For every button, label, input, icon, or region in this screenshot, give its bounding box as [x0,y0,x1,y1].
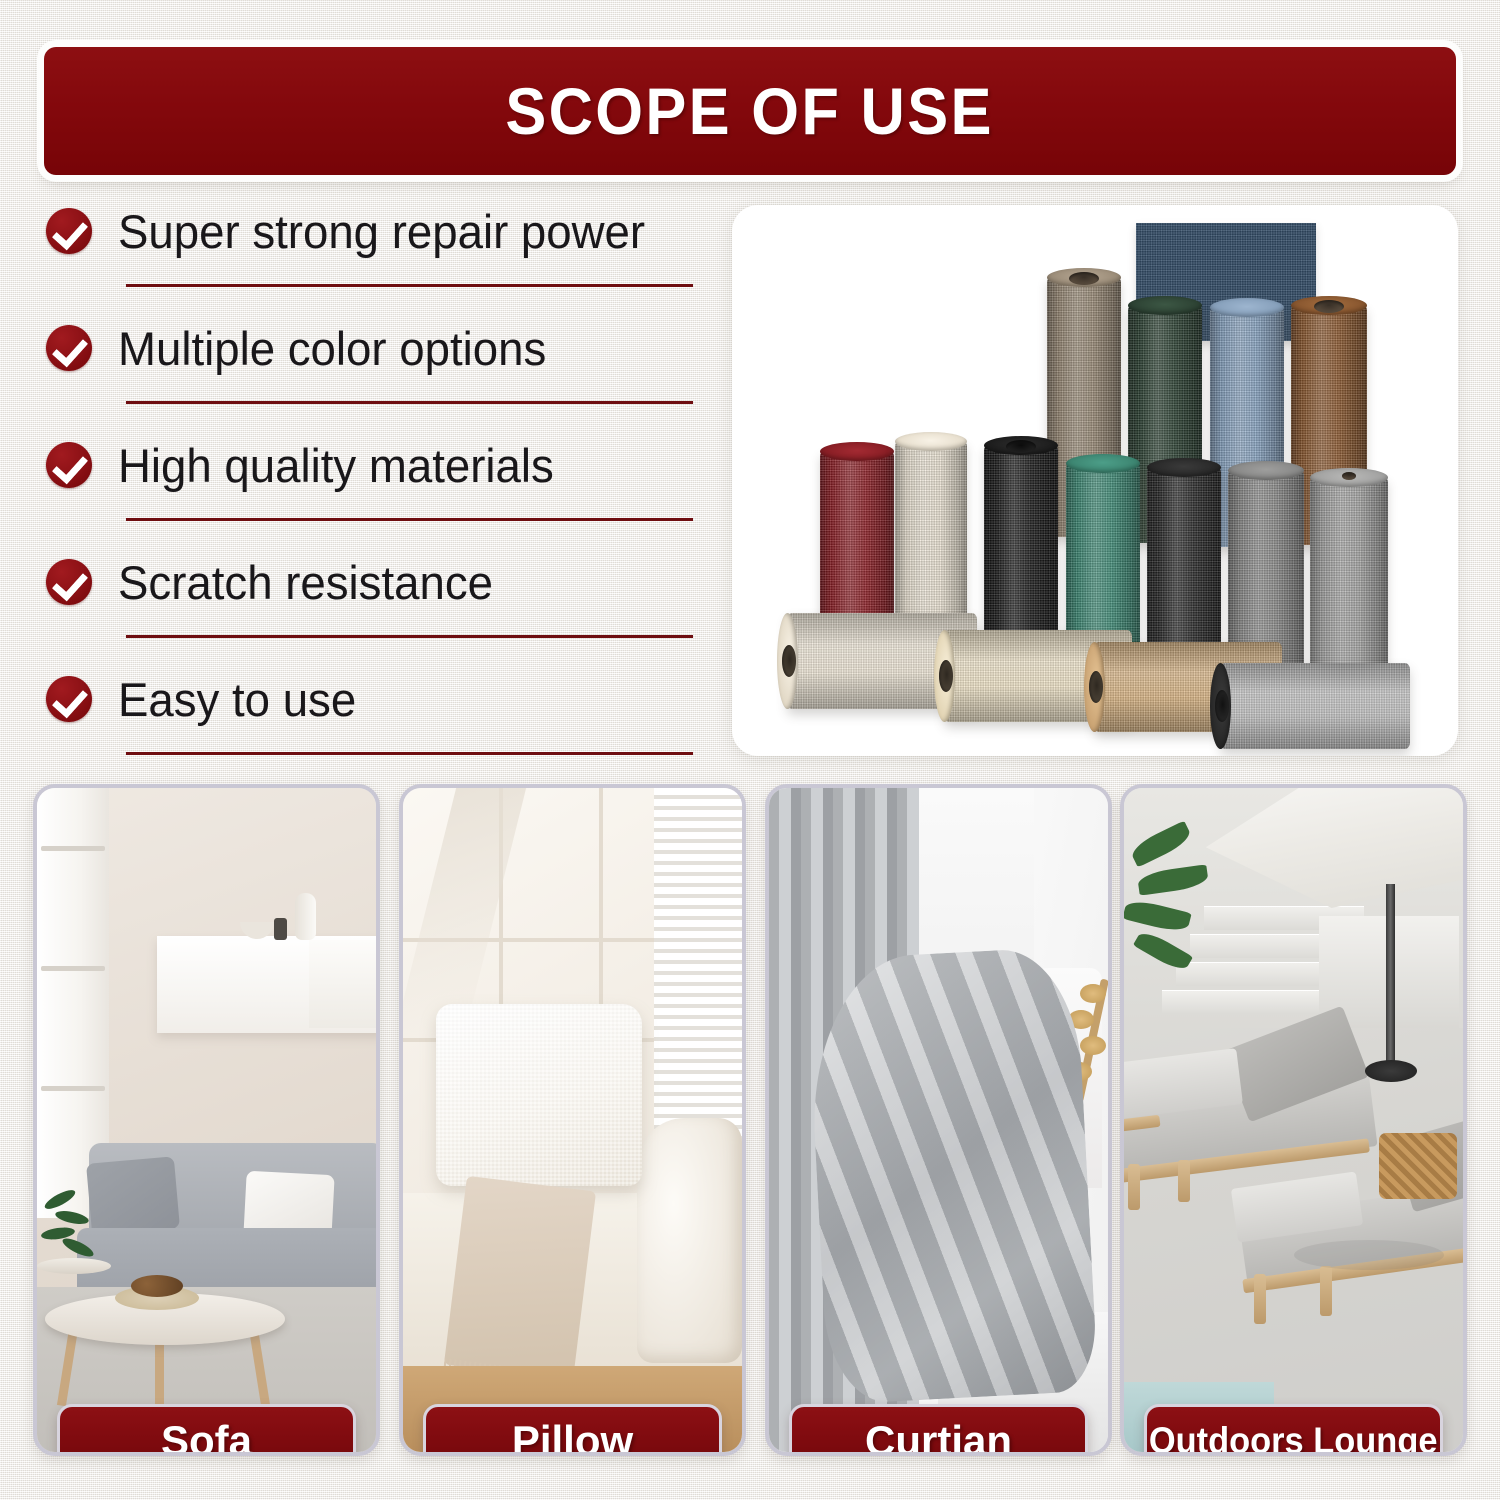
check-circle-icon [46,559,92,605]
list-item: Super strong repair power [46,200,696,287]
feature-list: Super strong repair power Multiple color… [46,200,696,755]
pillow-scene-image [403,788,742,1452]
feature-label: Super strong repair power [118,204,645,259]
divider [126,518,693,521]
check-circle-icon [46,325,92,371]
list-item: Easy to use [46,668,696,755]
infographic-canvas: SCOPE OF USE Super strong repair power M… [0,0,1500,1500]
feature-label: Scratch resistance [118,555,493,610]
scene-panel-outdoors-lounge[interactable]: Outdoors Lounge [1120,784,1467,1456]
divider [126,635,693,638]
divider [126,401,693,404]
scene-label-outdoors-lounge: Outdoors Lounge [1144,1404,1443,1456]
scene-panel-pillow[interactable]: Pillow [399,784,746,1456]
scene-label-sofa: Sofa [57,1404,356,1456]
list-item: High quality materials [46,434,696,521]
scene-panel-sofa[interactable]: Sofa [33,784,380,1456]
tape-roll-silver [1220,663,1410,749]
scene-label-text: Outdoors Lounge [1149,1420,1438,1456]
divider [126,752,693,755]
check-circle-icon [46,442,92,488]
scene-label-text: Sofa [161,1417,252,1456]
feature-label: High quality materials [118,438,554,493]
divider [126,284,693,287]
sofa-scene-image [37,788,376,1452]
check-circle-icon [46,208,92,254]
tape-roll-group [732,205,1458,756]
feature-label: Multiple color options [118,321,546,376]
check-circle-icon [46,676,92,722]
scene-panel-curtain[interactable]: Curtian [765,784,1112,1456]
scene-label-curtain: Curtian [789,1404,1088,1456]
scene-label-pillow: Pillow [423,1404,722,1456]
scene-label-text: Curtian [865,1417,1012,1456]
feature-label: Easy to use [118,672,356,727]
outdoors-lounge-scene-image [1124,788,1463,1452]
header-banner: SCOPE OF USE [44,47,1456,175]
page-title: SCOPE OF USE [506,73,994,149]
curtain-scene-image [769,788,1108,1452]
list-item: Scratch resistance [46,551,696,638]
scene-label-text: Pillow [512,1417,633,1456]
list-item: Multiple color options [46,317,696,404]
product-photo-card: CaHOme LINEN REPAIR TAPE Easy to Paste Q… [732,205,1458,756]
